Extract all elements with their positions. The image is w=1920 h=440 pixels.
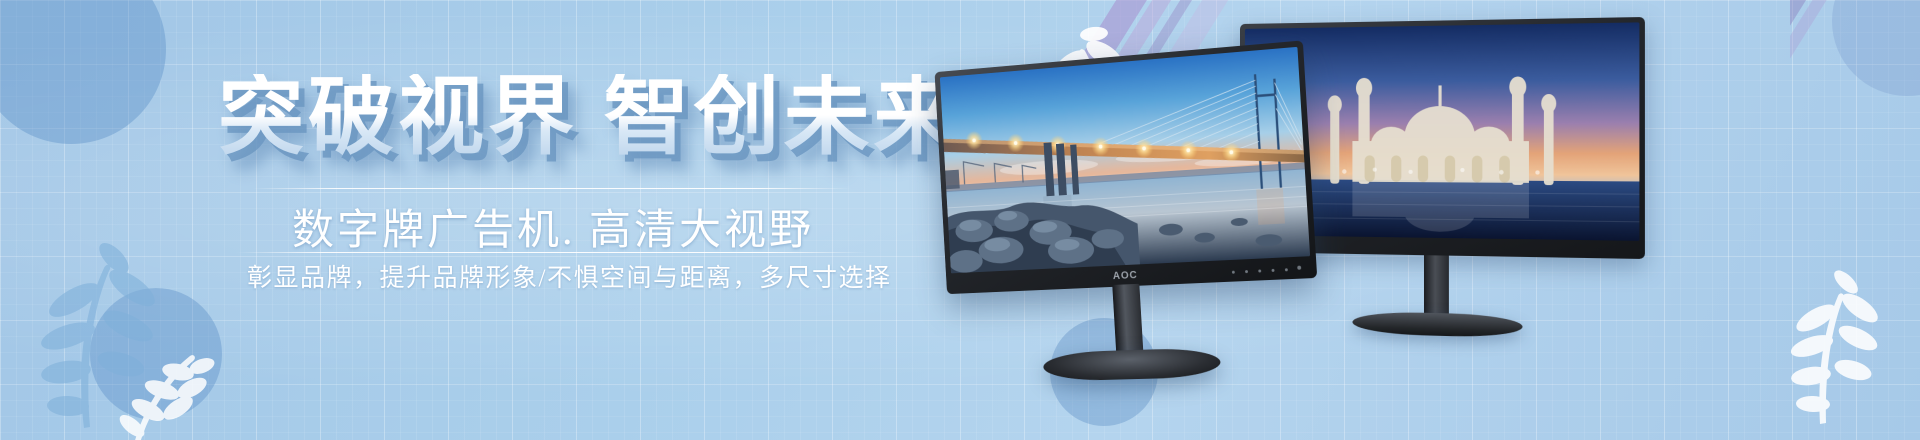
divider-bottom (236, 252, 868, 253)
caption: 彰显品牌，提升品牌形象/不惧空间与距离，多尺寸选择 (247, 258, 891, 294)
subtitle: 数字牌广告机. 高清大视野 (292, 196, 814, 257)
front-monitor-stand-neck (1112, 284, 1143, 359)
page-title: 突破视界 智创未来 (218, 74, 964, 160)
back-monitor-stand-base (1352, 311, 1522, 338)
monitor-brand-label: AOC (1113, 269, 1138, 282)
front-monitor-screen (940, 47, 1310, 273)
promo-banner: 突破视界 智创未来 数字牌广告机. 高清大视野 彰显品牌，提升品牌形象/不惧空间… (0, 0, 1920, 440)
divider-top (252, 188, 852, 189)
front-monitor: AOC (935, 40, 1318, 294)
back-monitor-stand-neck (1424, 255, 1449, 319)
front-monitor-stand-base (1043, 347, 1222, 381)
product-image-group: AOC (860, 0, 1920, 440)
monitor-power-led (1297, 266, 1301, 270)
